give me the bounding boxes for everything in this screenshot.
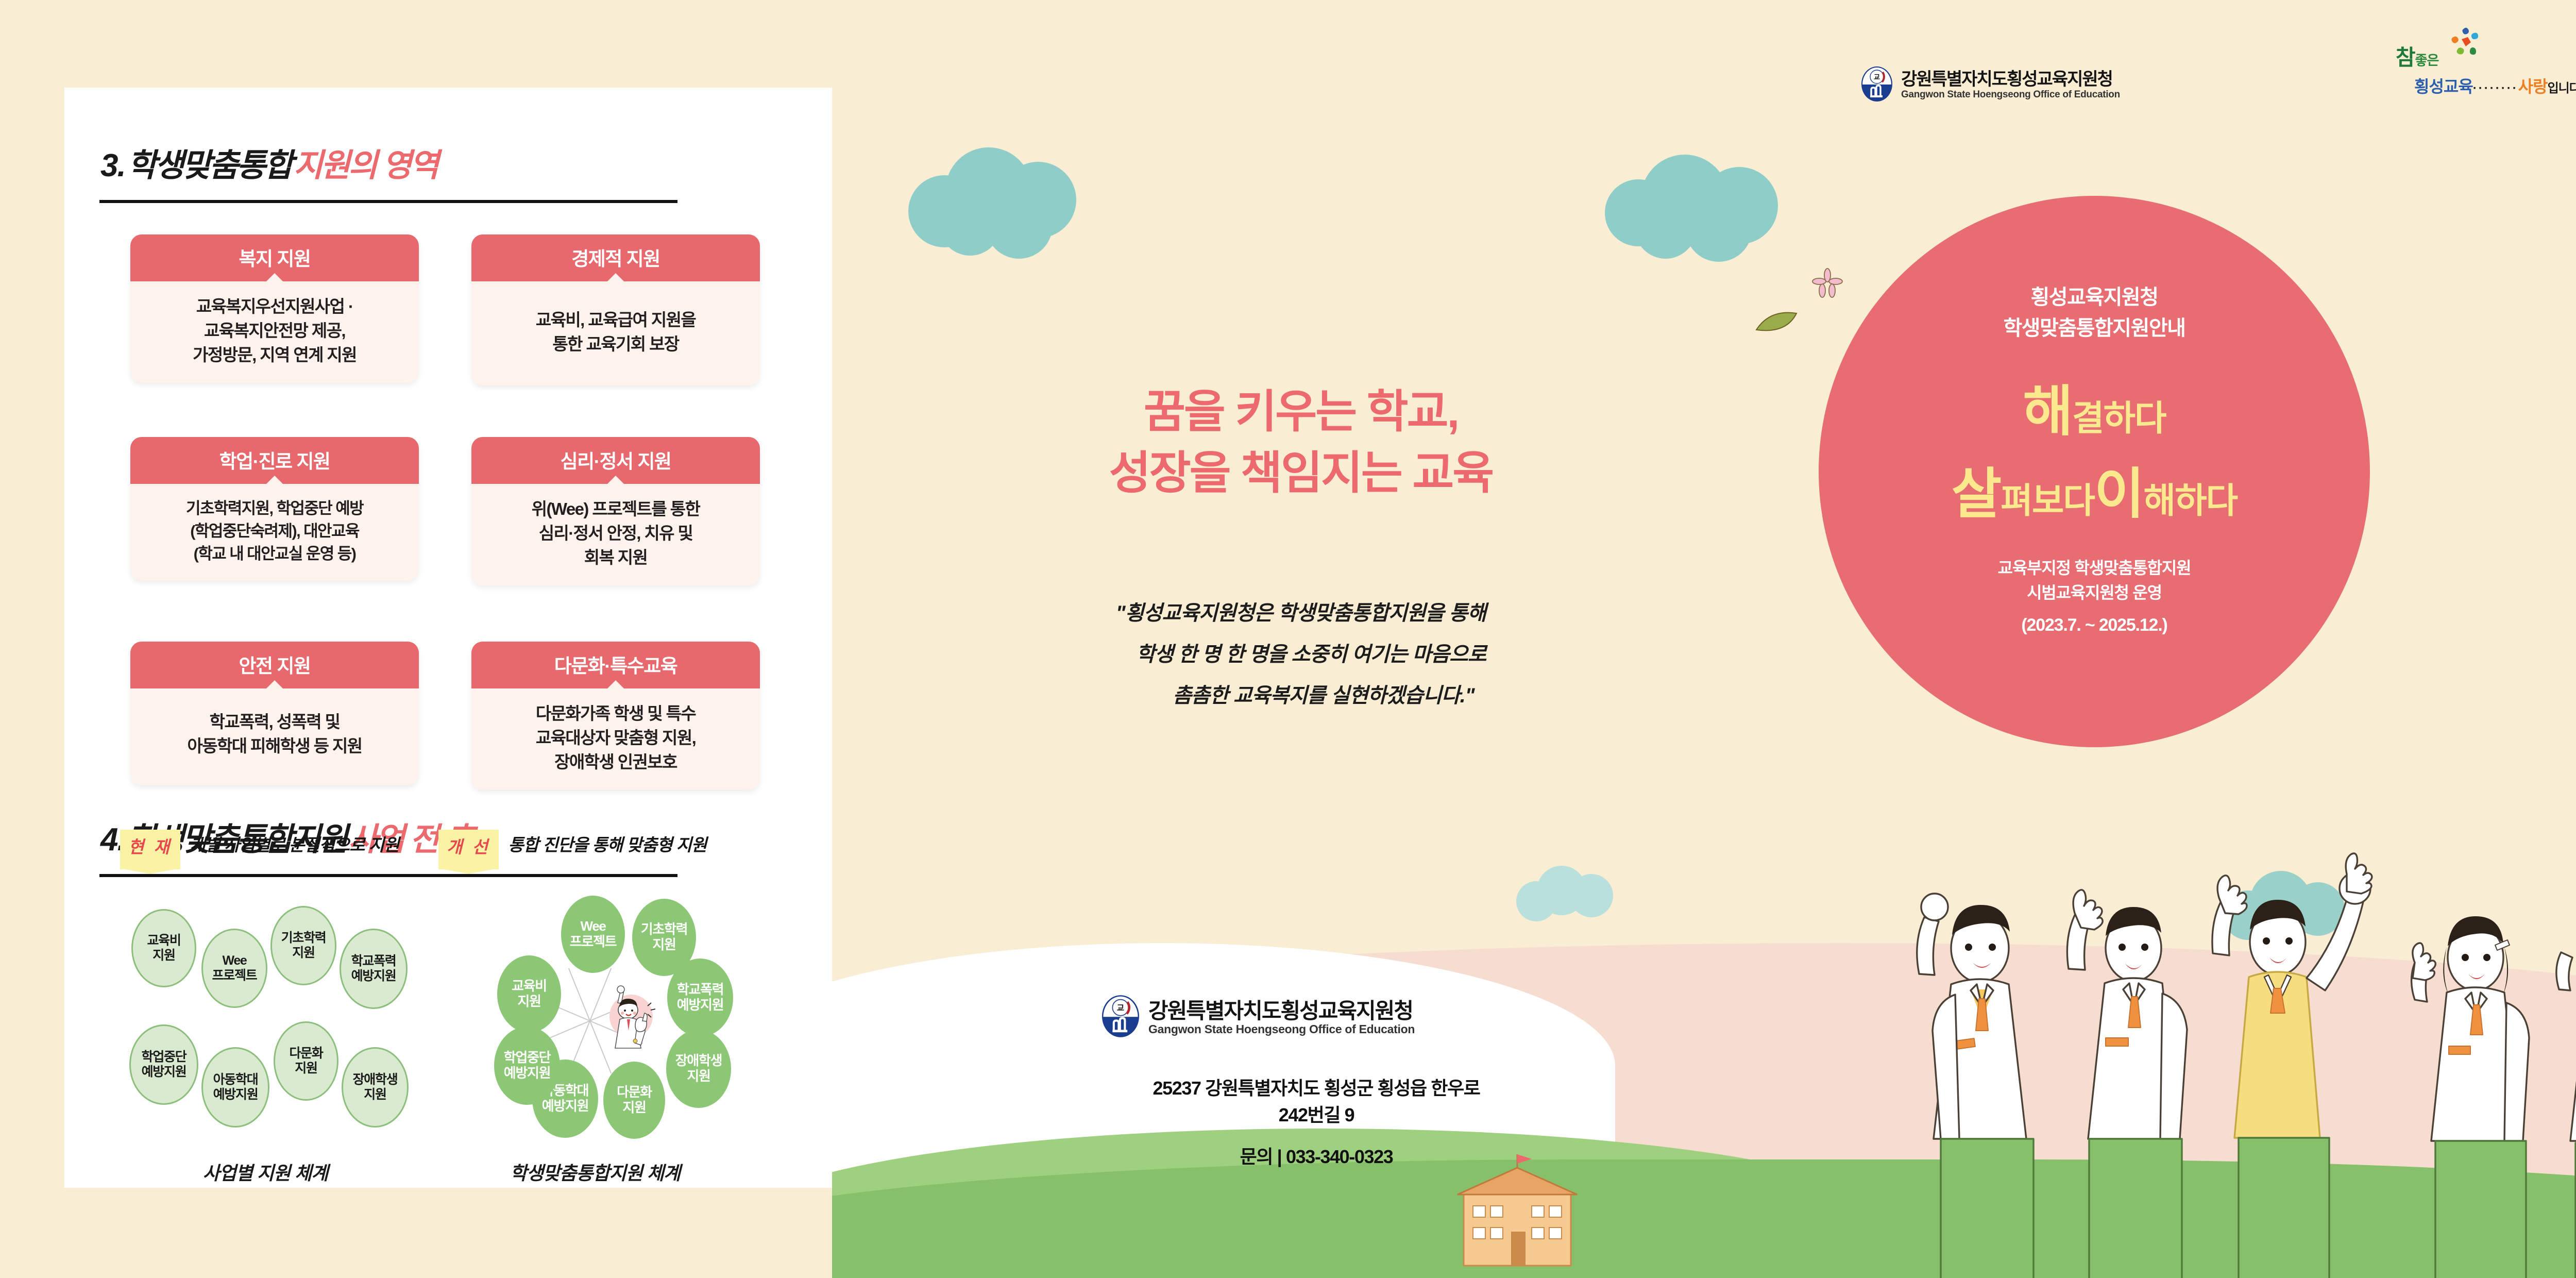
card-safety-support: 안전 지원 학교폭력, 성폭력 및아동학대 피해학생 등 지원: [130, 642, 419, 785]
after-item-3: 장애학생지원: [666, 1030, 731, 1108]
card-academic-career-support-header: 학업·진로 지원: [130, 437, 419, 484]
footer-org-logo: 교 강원특별자치도횡성교육지원청 Gangwon State Hoengseon…: [1100, 995, 1415, 1040]
after-caption: 학생맞춤통합지원 체계: [415, 1158, 775, 1185]
teacher-thumbsup-illustration: [594, 983, 661, 1061]
before-diagram: 교육비지원 Wee프로젝트 기초학력지원 학교폭력예방지원 학업중단예방지원 아…: [126, 897, 404, 1144]
leaf-icon-1: [1754, 309, 1799, 335]
header-org-korean: 강원특별자치도횡성교육지원청: [1901, 70, 2120, 89]
footer-org-names: 강원특별자치도횡성교육지원청 Gangwon State Hoengseong …: [1148, 999, 1415, 1036]
before-flag-text: 개별 사업별로 분절적으로 지원: [190, 831, 399, 856]
org-emblem-icon: 교: [1860, 66, 1894, 105]
brand-slogan-imnida: 입니다: [2548, 81, 2576, 95]
before-item-3: 학교폭력예방지원: [340, 929, 408, 1009]
footer-contact-phone: 문의 | 033-340-0323: [1012, 1142, 1620, 1169]
card-economic-support-header: 경제적 지원: [471, 234, 760, 281]
brand-slogan-line2: 횡성교육········사랑입니다: [2414, 74, 2576, 97]
before-item-6: 다문화지원: [274, 1021, 338, 1101]
brand-slogan-cham: 참: [2396, 45, 2415, 70]
footer-address-line2: 242번길 9: [1012, 1102, 1620, 1129]
after-flag-header: 개 선 통합 진단을 통해 맞춤형 지원: [438, 830, 706, 869]
header-org-logo: 교 강원특별자치도횡성교육지원청 Gangwon State Hoengseon…: [1860, 66, 2120, 105]
svg-text:교: 교: [1874, 73, 1880, 81]
footer-org-emblem-icon: 교: [1100, 995, 1141, 1040]
card-welfare-support-header: 복지 지원: [130, 234, 419, 281]
header-org-english: Gangwon State Hoengseong Office of Educa…: [1901, 90, 2120, 100]
card-welfare-support-body: 교육복지우선지원사업 ·교육복지안전망 제공,가정방문, 지역 연계 지원: [130, 281, 419, 383]
brand-slogan-dots: ········: [2473, 81, 2518, 95]
card-economic-support-body: 교육비, 교육급여 지원을통한 교육기회 보장: [471, 281, 760, 385]
disc-big-line1: 해결하다: [2023, 367, 2165, 446]
disc-top-line1: 횡성교육지원청: [2030, 283, 2158, 311]
before-caption: 사업별 지원 체계: [95, 1158, 435, 1185]
cloud-icon-1: [908, 144, 1120, 258]
disc-bottom-line1: 교육부지정 학생맞춤통합지원: [1998, 556, 2191, 580]
card-multicultural-special-education-body: 다문화가족 학생 및 특수교육대상자 맞춤형 지원,장애학생 인권보호: [471, 688, 760, 790]
disc-big-line2: 살펴보다이해하다: [1952, 449, 2237, 529]
center-panel: 교 강원특별자치도횡성교육지원청 Gangwon State Hoengseon…: [832, 0, 2576, 1278]
brand-slogan-hoengseong: 횡성교육: [2414, 77, 2473, 96]
card-psychological-support-header: 심리·정서 지원: [471, 437, 760, 484]
before-item-1: Wee프로젝트: [201, 929, 267, 1008]
after-item-2: 학교폭력예방지원: [667, 959, 733, 1037]
card-welfare-support: 복지 지원 교육복지우선지원사업 ·교육복지안전망 제공,가정방문, 지역 연계…: [130, 234, 419, 383]
svg-text:교: 교: [1117, 1004, 1124, 1013]
pledge-quote-line2: 학생 한 명 한 명을 소중히 여기는 마음으로: [1048, 634, 1574, 675]
card-multicultural-special-education: 다문화·특수교육 다문화가족 학생 및 특수교육대상자 맞춤형 지원,장애학생 …: [471, 642, 760, 790]
card-multicultural-special-education-header: 다문화·특수교육: [471, 642, 760, 688]
disc-top-line2: 학생맞춤통합지원안내: [2004, 314, 2185, 342]
card-safety-support-body: 학교폭력, 성폭력 및아동학대 피해학생 등 지원: [130, 688, 419, 785]
header-org-names: 강원특별자치도횡성교육지원청 Gangwon State Hoengseong …: [1901, 70, 2120, 100]
disc-big-sal: 살: [1952, 464, 2001, 525]
waving-students-illustration: [1842, 819, 2576, 1278]
disc-big-haehada: 해하다: [2144, 481, 2238, 520]
after-item-6: 학업중단예방지원: [494, 1027, 560, 1105]
disc-big-gyeolhada: 결하다: [2072, 399, 2166, 438]
pledge-quote: "횡성교육지원청은 학생맞춤통합지원을 통해 학생 한 명 한 명을 소중히 여…: [1028, 593, 1574, 716]
footer-org-english: Gangwon State Hoengseong Office of Educa…: [1148, 1023, 1415, 1036]
footer-address-line1: 25237 강원특별자치도 횡성군 횡성읍 한우로: [1012, 1075, 1620, 1102]
brand-slogan-joeun: 좋은: [2415, 53, 2439, 68]
card-psychological-support-body: 위(Wee) 프로젝트를 통한심리·정서 안정, 치유 및회복 지원: [471, 484, 760, 585]
after-item-7: 교육비지원: [497, 955, 561, 1033]
card-academic-career-support-body: 기초학력지원, 학업중단 예방(학업중단숙려제), 대안교육(학교 내 대안교실…: [130, 484, 419, 581]
disc-big-hae: 해: [2023, 381, 2072, 442]
before-flag-label: 현 재: [120, 830, 180, 869]
footer-org-korean: 강원특별자치도횡성교육지원청: [1148, 999, 1415, 1023]
disc-big-pyeoboda: 펴보다: [2001, 481, 2094, 520]
before-item-2: 기초학력지원: [270, 906, 336, 985]
after-item-0: Wee프로젝트: [561, 896, 625, 973]
pledge-quote-line1: "횡성교육지원청은 학생맞춤통합지원을 통해: [1028, 593, 1574, 634]
before-item-4: 학업중단예방지원: [129, 1024, 198, 1105]
after-flag-text: 통합 진단을 통해 맞춤형 지원: [508, 831, 706, 856]
before-item-7: 장애학생지원: [342, 1047, 409, 1128]
disc-bottom-line3: (2023.7. ~ 2025.12.): [2021, 612, 2167, 638]
card-safety-support-header: 안전 지원: [130, 642, 419, 688]
cloud-icon-2: [1605, 155, 1821, 263]
main-slogan-line1: 꿈을 키우는 학교,: [997, 381, 1605, 443]
brand-slogan: 참좋은 횡성교육········사랑입니다: [2396, 40, 2576, 97]
left-panel: 3. 학생맞춤통합 지원의 영역 복지 지원 교육복지우선지원사업 ·교육복지안…: [64, 88, 832, 1188]
main-slogan: 꿈을 키우는 학교, 성장을 책임지는 교육: [997, 381, 1605, 504]
brochure-sheet: 3. 학생맞춤통합 지원의 영역 복지 지원 교육복지우선지원사업 ·교육복지안…: [0, 0, 2576, 1278]
before-item-5: 아동학대예방지원: [201, 1047, 269, 1128]
card-economic-support: 경제적 지원 교육비, 교육급여 지원을통한 교육기회 보장: [471, 234, 760, 385]
star-people-icon: [2446, 26, 2485, 61]
after-item-4: 다문화지원: [603, 1062, 665, 1139]
before-item-0: 교육비지원: [131, 909, 196, 987]
after-flag-label: 개 선: [438, 830, 499, 869]
card-psychological-support: 심리·정서 지원 위(Wee) 프로젝트를 통한심리·정서 안정, 치유 및회복…: [471, 437, 760, 585]
main-slogan-line2: 성장을 책임지는 교육: [997, 443, 1605, 504]
campaign-disc: 횡성교육지원청 학생맞춤통합지원안내 해결하다 살펴보다이해하다 교육부지정 학…: [1819, 196, 2370, 747]
after-diagram: Wee프로젝트 기초학력지원 학교폭력예방지원 장애학생지원 다문화지원 아동학…: [446, 892, 734, 1149]
brand-slogan-sarang: 사랑: [2518, 77, 2548, 96]
disc-bottom-line2: 시범교육지원청 운영: [2027, 580, 2162, 605]
cloud-icon-3: [1516, 866, 1635, 928]
brand-slogan-line1: 참좋은: [2396, 40, 2576, 72]
flower-icon-1: [1812, 268, 1843, 299]
card-academic-career-support: 학업·진로 지원 기초학력지원, 학업중단 예방(학업중단숙려제), 대안교육(…: [130, 437, 419, 581]
pledge-quote-line3: 촘촘한 교육복지를 실현하겠습니다.": [1073, 675, 1574, 716]
disc-big-i: 이: [2094, 464, 2144, 525]
before-flag-header: 현 재 개별 사업별로 분절적으로 지원: [120, 830, 399, 869]
footer-contact: 25237 강원특별자치도 횡성군 횡성읍 한우로 242번길 9 문의 | 0…: [1012, 1075, 1620, 1169]
section4-rule: [99, 874, 677, 877]
